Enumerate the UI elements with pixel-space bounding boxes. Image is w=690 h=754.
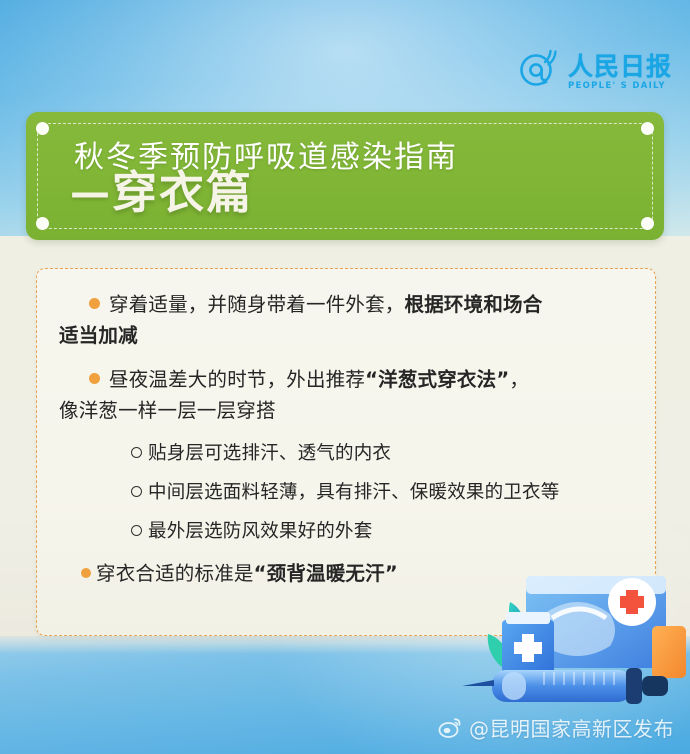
block-1-text-bold: 根据环境和场合 <box>405 293 543 316</box>
content-block-1: 穿着适量，并随身带着一件外套，根据环境和场合 适当加减 <box>59 289 635 351</box>
weibo-watermark: @昆明国家高新区发布 <box>438 713 674 742</box>
hollow-bullet-icon <box>131 486 142 497</box>
weibo-icon <box>438 716 462 740</box>
block-1-text-normal: 穿着适量，并随身带着一件外套， <box>109 293 405 316</box>
content-block-2: 昼夜温差大的时节，外出推荐“洋葱式穿衣法”， 像洋葱一样一层一层穿搭 <box>59 364 635 426</box>
logo-english-name: PEOPLE' S DAILY <box>568 81 666 92</box>
corner-dot-bottom-right <box>641 217 654 230</box>
content-card-body: 穿着适量，并随身带着一件外套，根据环境和场合 适当加减 昼夜温差大的时节，外出推… <box>59 289 635 589</box>
bullet-dot-icon <box>89 373 100 384</box>
corner-dot-top-right <box>641 122 654 135</box>
block-2-text-bold: “洋葱式穿衣法” <box>365 368 509 391</box>
block-2-text-tail: ， <box>509 368 529 391</box>
syringe-icon <box>462 668 668 704</box>
medical-supplies-illustration <box>460 568 690 718</box>
banner-dash-mark: — <box>70 173 108 213</box>
logo-chinese-name: 人民日报 <box>568 54 672 80</box>
hollow-bullet-icon <box>131 447 142 458</box>
sub-list-item-label: 贴身层可选排汗、透气的内衣 <box>148 443 391 464</box>
sub-list-item: 贴身层可选排汗、透气的内衣 <box>59 439 635 469</box>
content-block-2-line-2: 像洋葱一样一层一层穿搭 <box>59 395 635 426</box>
poster-root: 人民日报 PEOPLE' S DAILY 秋冬季预防呼吸道感染指南 — 穿衣篇 … <box>0 0 690 754</box>
bullet-dot-icon <box>81 568 91 578</box>
sub-list-item-label: 中间层选面料轻薄，具有排汗、保暖效果的卫衣等 <box>148 482 559 503</box>
corner-dot-top-left <box>36 122 49 135</box>
corner-dot-bottom-left <box>36 217 49 230</box>
weibo-handle: @昆明国家高新区发布 <box>469 713 674 742</box>
sub-item-list: 贴身层可选排汗、透气的内衣 中间层选面料轻薄，具有排汗、保暖效果的卫衣等 最外层… <box>59 439 635 547</box>
banner-subtitle-row: — 穿衣篇 <box>70 170 253 215</box>
final-text-bold: “颈背温暖无汗” <box>254 562 398 585</box>
final-text-normal: 穿衣合适的标准是 <box>96 562 254 585</box>
bullet-dot-icon <box>89 298 100 309</box>
hollow-bullet-icon <box>131 525 142 536</box>
at-sign-icon <box>517 46 563 92</box>
block-2-text-normal: 昼夜温差大的时节，外出推荐 <box>109 368 365 391</box>
sub-list-item: 中间层选面料轻薄，具有排汗、保暖效果的卫衣等 <box>59 478 635 508</box>
title-banner: 秋冬季预防呼吸道感染指南 — 穿衣篇 <box>26 112 664 240</box>
sub-list-item: 最外层选防风效果好的外套 <box>59 517 635 547</box>
peoples-daily-logo: 人民日报 PEOPLE' S DAILY <box>517 46 672 92</box>
content-block-1-line-2: 适当加减 <box>59 320 635 351</box>
content-block-1-line-1: 穿着适量，并随身带着一件外套，根据环境和场合 <box>59 289 635 320</box>
content-block-2-line-1: 昼夜温差大的时节，外出推荐“洋葱式穿衣法”， <box>59 364 635 395</box>
orange-box <box>652 626 686 678</box>
block-1-line2-bold: 适当加减 <box>59 324 138 347</box>
banner-subtitle: 穿衣篇 <box>112 170 253 215</box>
sub-list-item-label: 最外层选防风效果好的外套 <box>148 521 372 542</box>
